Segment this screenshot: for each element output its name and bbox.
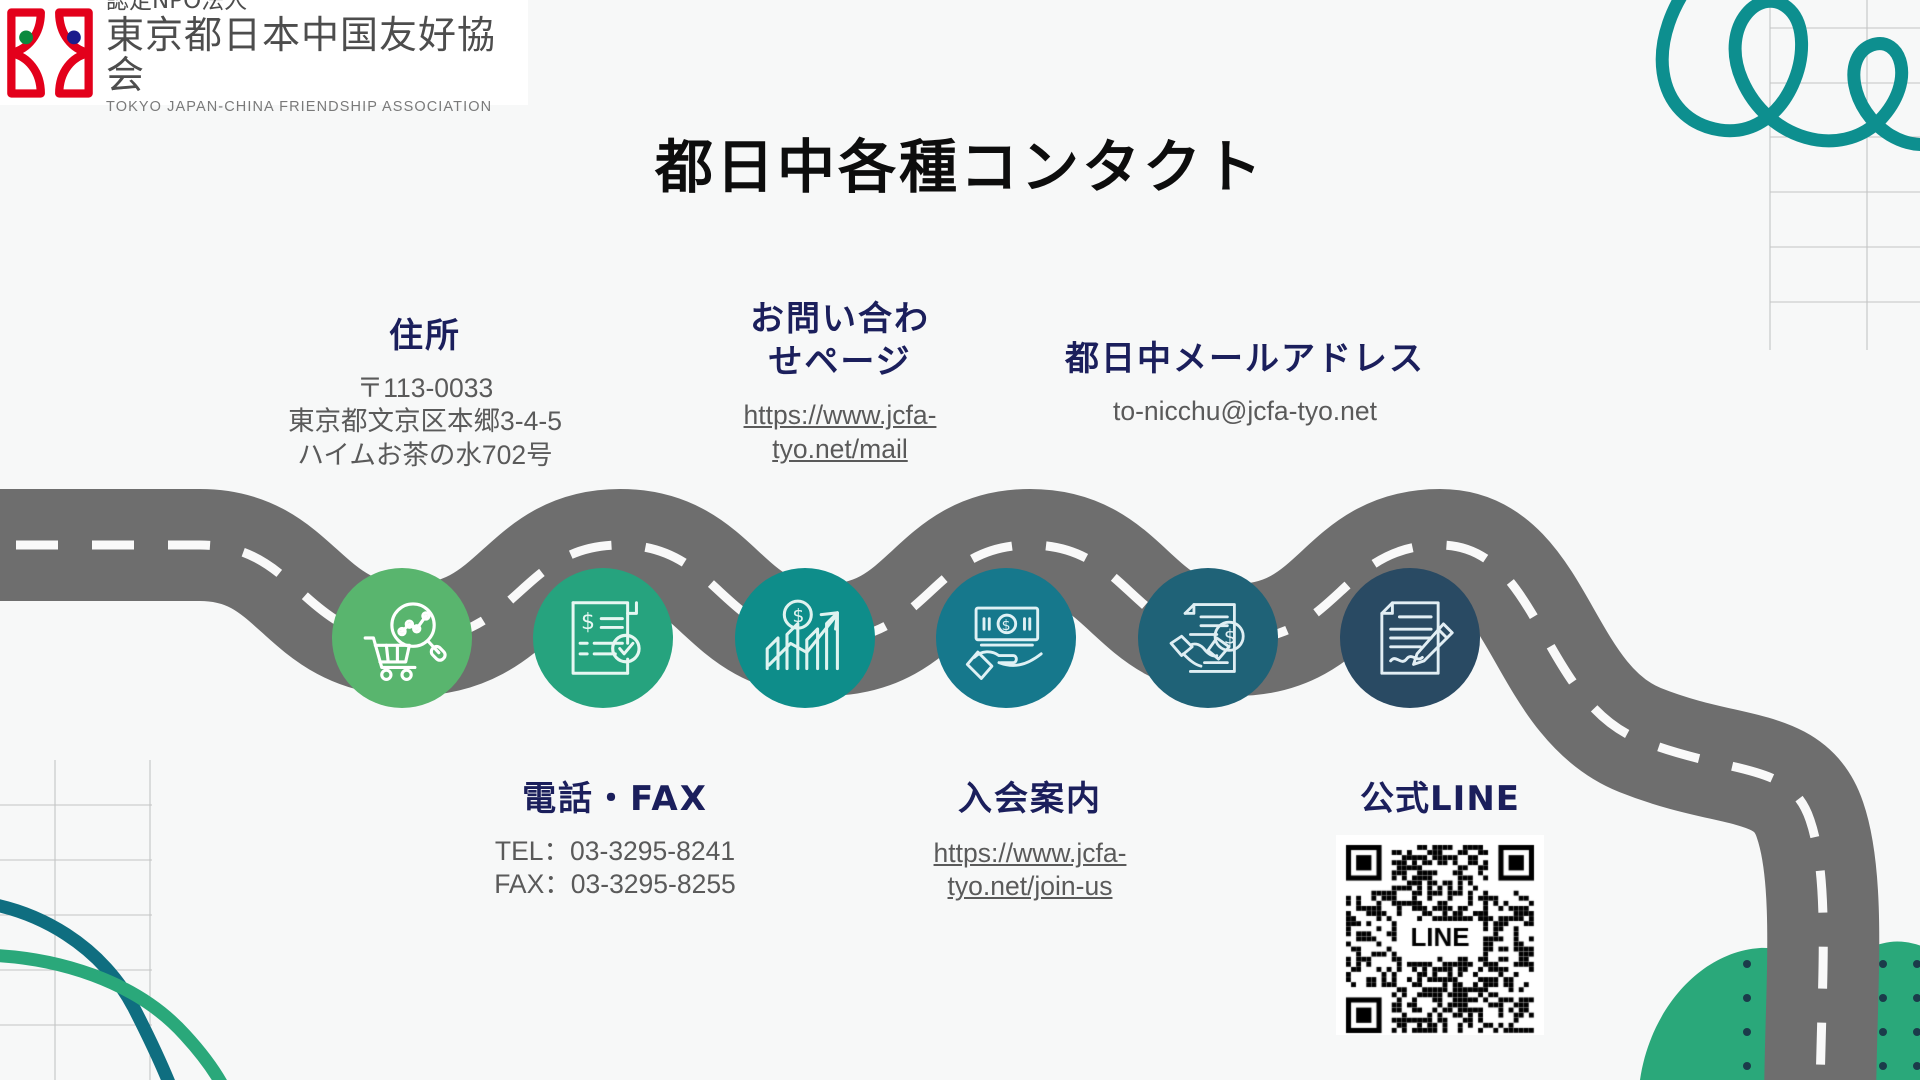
info-block-email: 都日中メールアドレス to-nicchu@jcfa-tyo.net	[1000, 338, 1490, 428]
organization-logo: 認定NPO法人 東京都日本中国友好協会 TOKYO JAPAN-CHINA FR…	[0, 0, 528, 105]
address-heading: 住所	[250, 315, 600, 358]
handshake-dollar-icon: $	[1164, 594, 1252, 682]
slide-canvas: 認定NPO法人 東京都日本中国友好協会 TOKYO JAPAN-CHINA FR…	[0, 0, 1920, 1080]
growth-dollar-icon: $	[760, 593, 850, 683]
invoice-check-icon: $	[559, 594, 647, 682]
curve-decoration-green	[0, 955, 226, 1080]
road-stop-contract[interactable]	[1340, 568, 1480, 708]
hand-money-icon: $	[962, 594, 1050, 682]
page-title: 都日中各種コンタクト	[0, 120, 1920, 204]
svg-text:$: $	[1002, 618, 1011, 634]
email-heading: 都日中メールアドレス	[1000, 338, 1490, 381]
road-stop-money-hand[interactable]: $	[936, 568, 1076, 708]
road-stop-growth[interactable]: $	[735, 568, 875, 708]
logo-line-2: 東京都日本中国友好協会	[106, 16, 528, 96]
blob-decoration	[1640, 942, 1920, 1080]
road-stop-market-research[interactable]	[332, 568, 472, 708]
join-link[interactable]: https://www.jcfa- tyo.net/join-us	[880, 837, 1180, 905]
join-heading: 入会案内	[880, 778, 1180, 821]
info-block-join: 入会案内 https://www.jcfa- tyo.net/join-us	[880, 778, 1180, 904]
contact-page-heading: お問い合わ せページ	[690, 298, 990, 383]
road-stop-invoice[interactable]: $	[533, 568, 673, 708]
svg-text:$: $	[581, 610, 595, 635]
line-heading: 公式LINE	[1310, 778, 1570, 821]
tel-fax-heading: 電話・FAX	[450, 778, 780, 821]
contact-page-link[interactable]: https://www.jcfa- tyo.net/mail	[690, 399, 990, 467]
curve-decoration-dark	[0, 900, 172, 1080]
grid-bottom-left	[0, 760, 152, 1080]
qr-canvas[interactable]	[1336, 835, 1544, 1035]
info-block-address: 住所 〒113-0033 東京都文京区本郷3-4-5 ハイムお茶の水702号	[250, 315, 600, 473]
tel-fax-numbers: TEL：03-3295-8241 FAX：03-3295-8255	[450, 835, 780, 903]
logo-line-1: 認定NPO法人	[106, 0, 528, 13]
logo-line-3: TOKYO JAPAN-CHINA FRIENDSHIP ASSOCIATION	[106, 100, 528, 115]
document-pencil-icon	[1366, 594, 1454, 682]
email-address[interactable]: to-nicchu@jcfa-tyo.net	[1000, 395, 1490, 429]
info-block-tel-fax: 電話・FAX TEL：03-3295-8241 FAX：03-3295-8255	[450, 778, 780, 902]
info-block-line: 公式LINE	[1310, 778, 1570, 1035]
line-qr-code[interactable]	[1336, 835, 1544, 1035]
logo-mark-icon	[4, 7, 96, 99]
road-stop-agreement[interactable]: $	[1138, 568, 1278, 708]
info-block-contact-page: お問い合わ せページ https://www.jcfa- tyo.net/mai…	[690, 298, 990, 467]
cart-magnifier-icon	[356, 592, 448, 684]
dot-grid-decoration	[1743, 960, 1920, 1070]
address-body: 〒113-0033 東京都文京区本郷3-4-5 ハイムお茶の水702号	[250, 372, 600, 474]
